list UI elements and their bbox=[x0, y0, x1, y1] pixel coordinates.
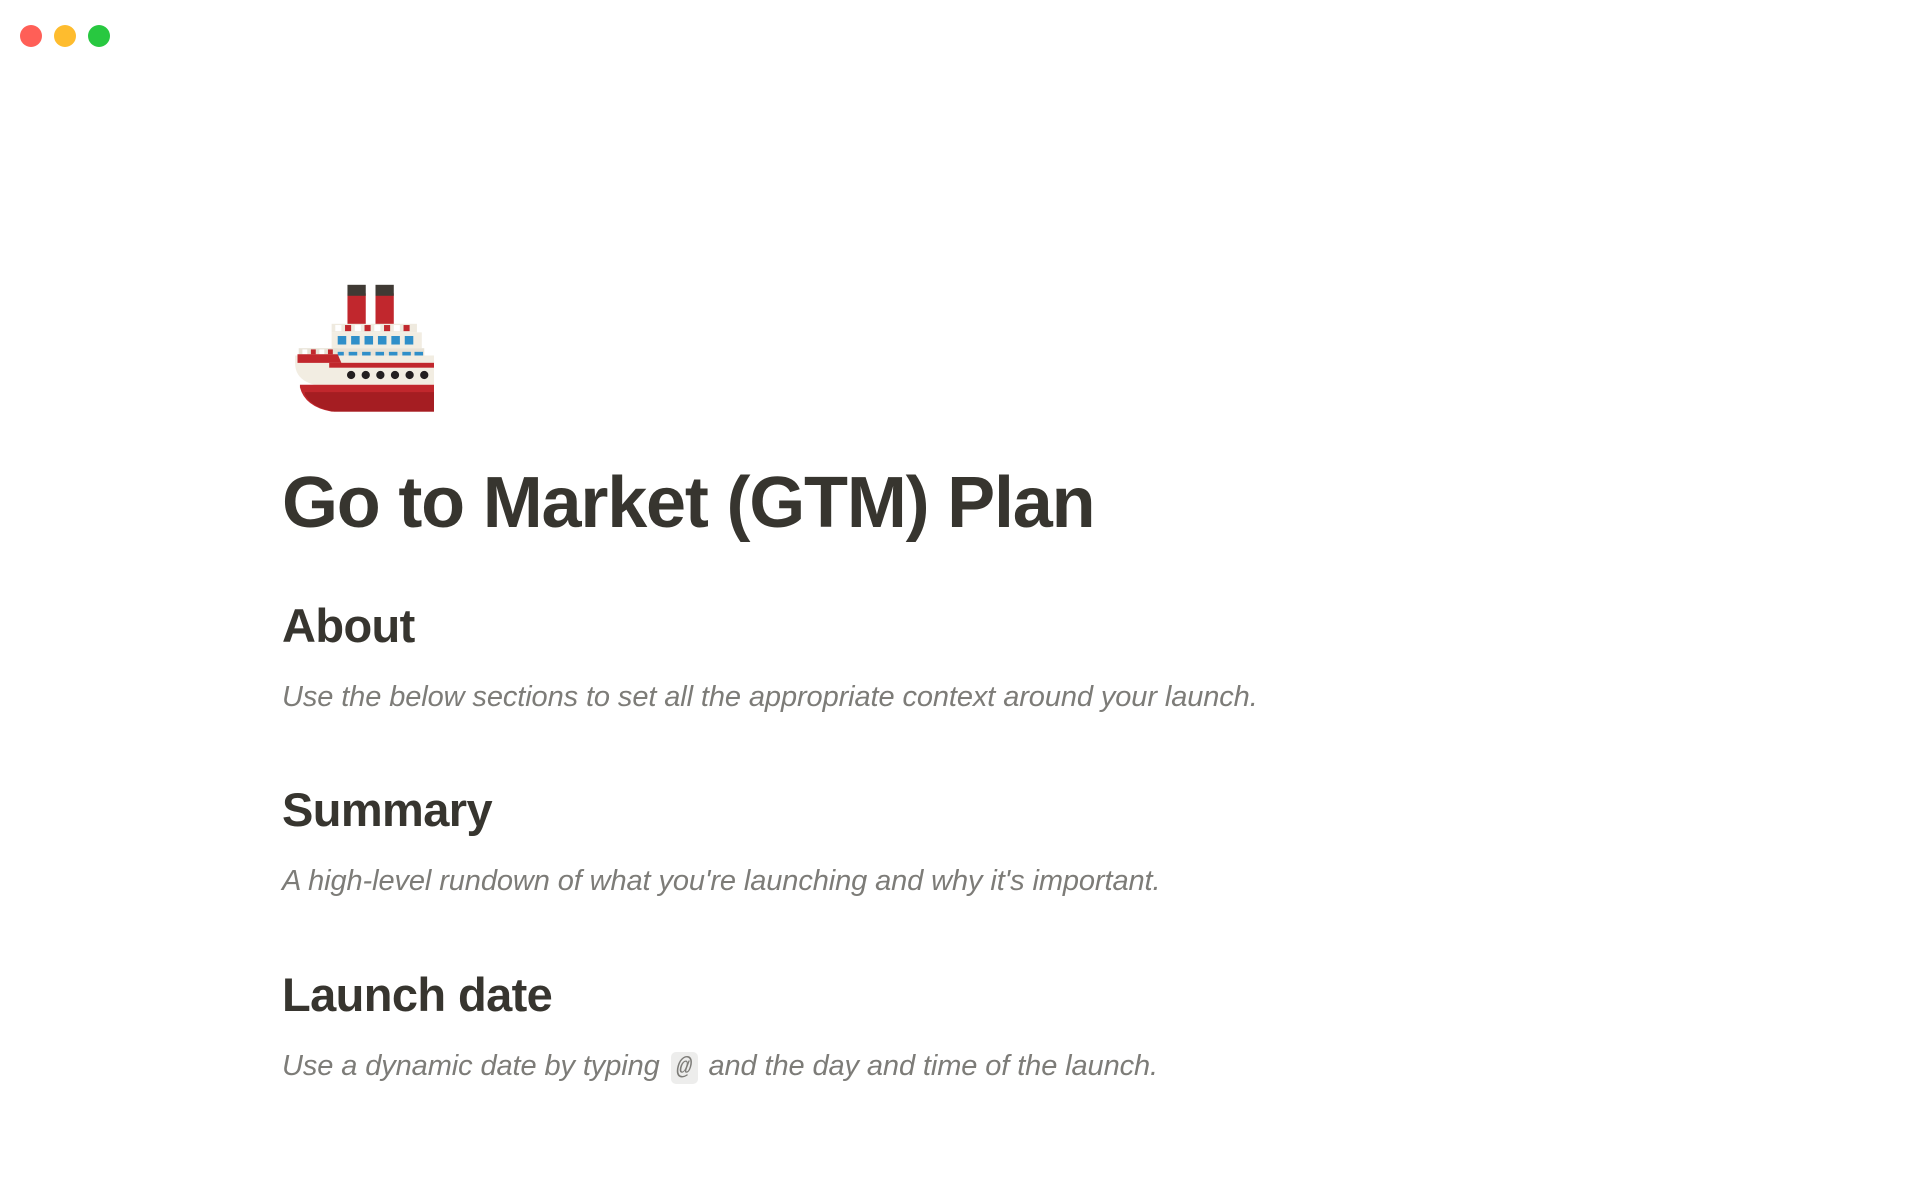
section-about: About Use the below sections to set all … bbox=[282, 599, 1682, 720]
section-body-launch-date-prefix: Use a dynamic date by typing bbox=[282, 1050, 668, 1082]
section-heading-launch-date: Launch date bbox=[282, 968, 1682, 1022]
section-body-summary: A high-level rundown of what you're laun… bbox=[282, 860, 1682, 904]
section-body-summary-text: A high-level rundown of what you're laun… bbox=[282, 865, 1160, 897]
section-heading-summary: Summary bbox=[282, 783, 1682, 837]
ship-icon[interactable] bbox=[278, 258, 434, 414]
section-body-launch-date-suffix: and the day and time of the launch. bbox=[701, 1050, 1159, 1082]
window-chrome bbox=[0, 0, 1920, 62]
document-page: Go to Market (GTM) Plan About Use the be… bbox=[0, 0, 1920, 1200]
page-title: Go to Market (GTM) Plan bbox=[282, 466, 1682, 542]
section-heading-about: About bbox=[282, 599, 1682, 653]
page-content: Go to Market (GTM) Plan About Use the be… bbox=[282, 258, 1682, 1088]
section-summary: Summary A high-level rundown of what you… bbox=[282, 783, 1682, 904]
minimize-window-button[interactable] bbox=[54, 25, 76, 47]
section-body-about: Use the below sections to set all the ap… bbox=[282, 676, 1682, 720]
section-launch-date: Launch date Use a dynamic date by typing… bbox=[282, 968, 1682, 1089]
traffic-light-controls bbox=[20, 25, 110, 47]
section-body-about-text: Use the below sections to set all the ap… bbox=[282, 681, 1258, 713]
at-mention-code-chip[interactable]: @ bbox=[671, 1052, 698, 1084]
maximize-window-button[interactable] bbox=[88, 25, 110, 47]
close-window-button[interactable] bbox=[20, 25, 42, 47]
section-body-launch-date: Use a dynamic date by typing @ and the d… bbox=[282, 1045, 1682, 1089]
